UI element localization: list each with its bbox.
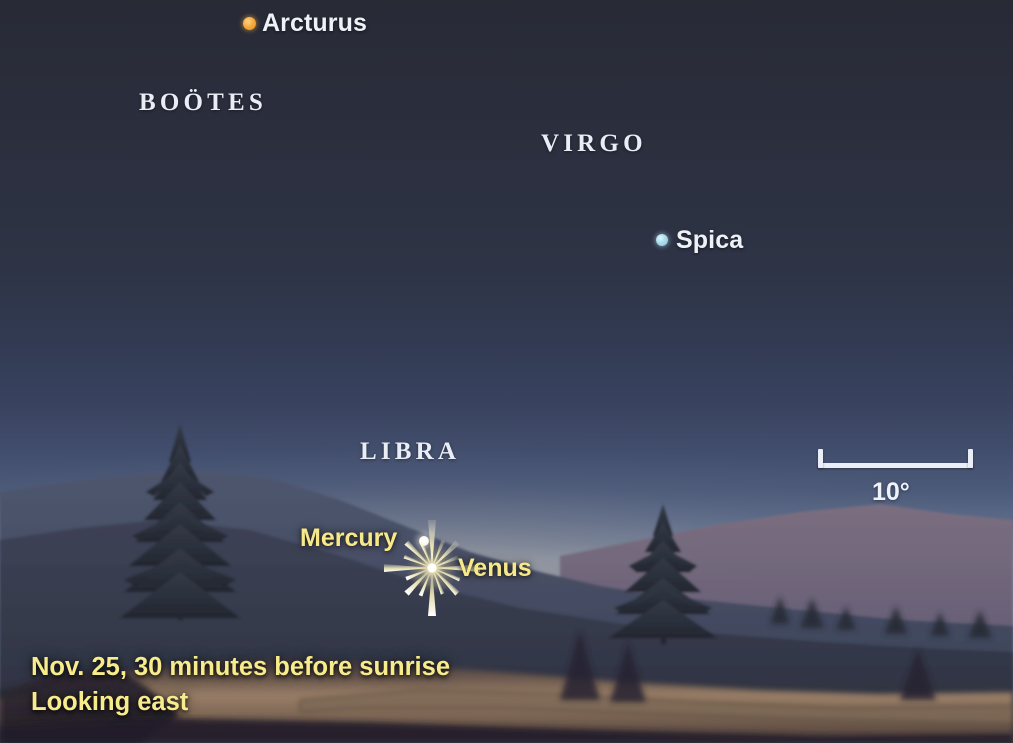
caption-block: Nov. 25, 30 minutes before sunrise Looki… xyxy=(31,650,450,720)
spica-label: Spica xyxy=(676,226,743,255)
scale-bar-tick-left xyxy=(818,449,823,468)
constellation-label-bootes: BOÖTES xyxy=(139,89,267,117)
spica-star-dot xyxy=(656,234,668,246)
scale-bar-label: 10° xyxy=(872,478,910,507)
arcturus-label: Arcturus xyxy=(262,9,367,38)
venus-label: Venus xyxy=(458,554,532,583)
caption-line-direction: Looking east xyxy=(31,685,450,720)
arcturus-star-dot xyxy=(243,17,256,30)
scale-bar-line xyxy=(818,463,973,468)
constellation-label-libra: LIBRA xyxy=(360,438,460,466)
constellation-label-virgo: VIRGO xyxy=(541,130,647,158)
sky-chart: Arcturus BOÖTES VIRGO Spica LIBRA 10° Me… xyxy=(0,0,1013,743)
caption-line-date-time: Nov. 25, 30 minutes before sunrise xyxy=(31,650,450,685)
angular-scale-bar xyxy=(818,449,973,468)
scale-bar-tick-right xyxy=(968,449,973,468)
